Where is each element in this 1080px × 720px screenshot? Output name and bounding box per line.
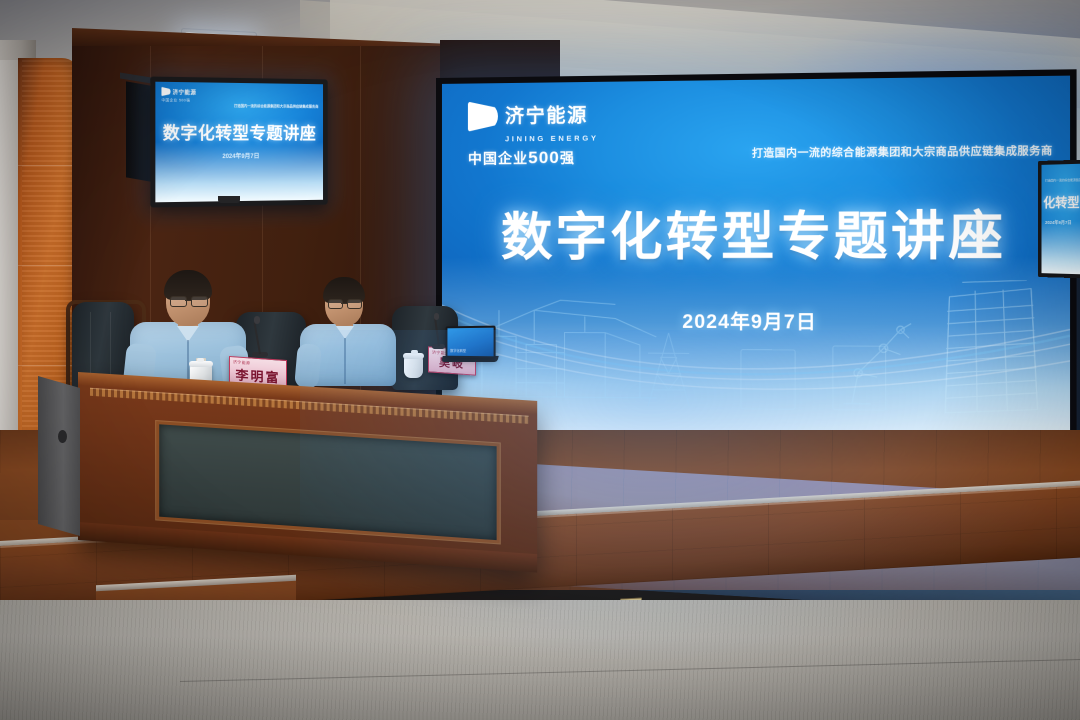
floor-carpet-texture (0, 600, 1080, 720)
person-left-glasses-icon (170, 296, 206, 305)
wall-orange-seam (18, 165, 80, 166)
laptop[interactable]: 数字化转型 (446, 326, 496, 359)
left-monitor-logo-cn: 济宁能源 (173, 88, 197, 96)
microphone-head-left[interactable] (254, 316, 260, 324)
screen-title: 数字化转型专题讲座 (442, 193, 1070, 270)
conference-hall-photo: 济宁能源 中国企业 500强 打造国内一流的综合能源集团和大宗商品供应链集成服务… (0, 0, 1080, 720)
mug-right[interactable] (404, 356, 423, 378)
screen-logo-company-cn: 济宁能源 (505, 106, 588, 126)
right-monitor-date: 2024年9月7日 (1045, 220, 1071, 226)
person-right-glasses-icon (328, 299, 360, 308)
person-right-arm (294, 343, 322, 389)
microphone-head-right[interactable] (434, 313, 439, 320)
left-monitor-screen: 济宁能源 中国企业 500强 打造国内一流的综合能源集团和大宗商品供应链集成服务… (155, 82, 323, 203)
screen-logo-company-en: JINING ENERGY (505, 133, 660, 144)
right-monitor-title: 化转型专题 (1043, 192, 1080, 212)
left-monitor-stand (218, 196, 240, 203)
left-monitor-logo: 济宁能源 (161, 87, 196, 97)
screen-logo: 济宁能源 JINING ENERGY 中国企业500强 (468, 99, 660, 168)
screen-logo-award-number: 500 (528, 148, 560, 167)
podium-cable-grommet-icon (58, 430, 67, 443)
jining-energy-fan-mark-icon (161, 87, 170, 96)
left-monitor-date: 2024年9月7日 (155, 151, 323, 161)
laptop-screen: 数字化转型 (447, 328, 493, 357)
screen-logo-award: 中国企业500强 (468, 147, 660, 169)
right-monitor-screen: 打造国内一流的综合能源集团 化转型专题 2024年9月7日 (1041, 163, 1080, 275)
nameplate-left-header: 济宁能源 (233, 359, 250, 366)
head-table-podium (78, 372, 537, 571)
left-monitor-logo-sub: 中国企业 500强 (161, 98, 190, 103)
screen-date: 2024年9月7日 (442, 306, 1070, 336)
left-monitor[interactable]: 济宁能源 中国企业 500强 打造国内一流的综合能源集团和大宗商品供应链集成服务… (150, 77, 327, 208)
podium-front-inset-panel (156, 421, 500, 543)
screen-logo-award-prefix: 中国企业 (468, 150, 528, 167)
right-monitor-slide-gradient (1041, 221, 1080, 275)
right-monitor[interactable]: 打造国内一流的综合能源集团 化转型专题 2024年9月7日 (1038, 159, 1080, 279)
left-monitor-tagline: 打造国内一流的综合能源集团和大宗商品供应链集成服务商 (234, 103, 318, 109)
podium-left-return-panel (38, 376, 80, 536)
jining-energy-fan-mark-icon (468, 101, 498, 131)
screen-logo-award-suffix: 强 (560, 150, 575, 166)
screen-tagline: 打造国内一流的综合能源集团和大宗商品供应链集成服务商 (752, 143, 1053, 161)
right-monitor-tagline: 打造国内一流的综合能源集团 (1045, 178, 1080, 183)
left-monitor-title: 数字化转型专题讲座 (155, 118, 323, 144)
laptop-screen-caption: 数字化转型 (450, 348, 466, 353)
person-right-placket (344, 338, 346, 384)
wall-orange-seam (18, 265, 80, 266)
